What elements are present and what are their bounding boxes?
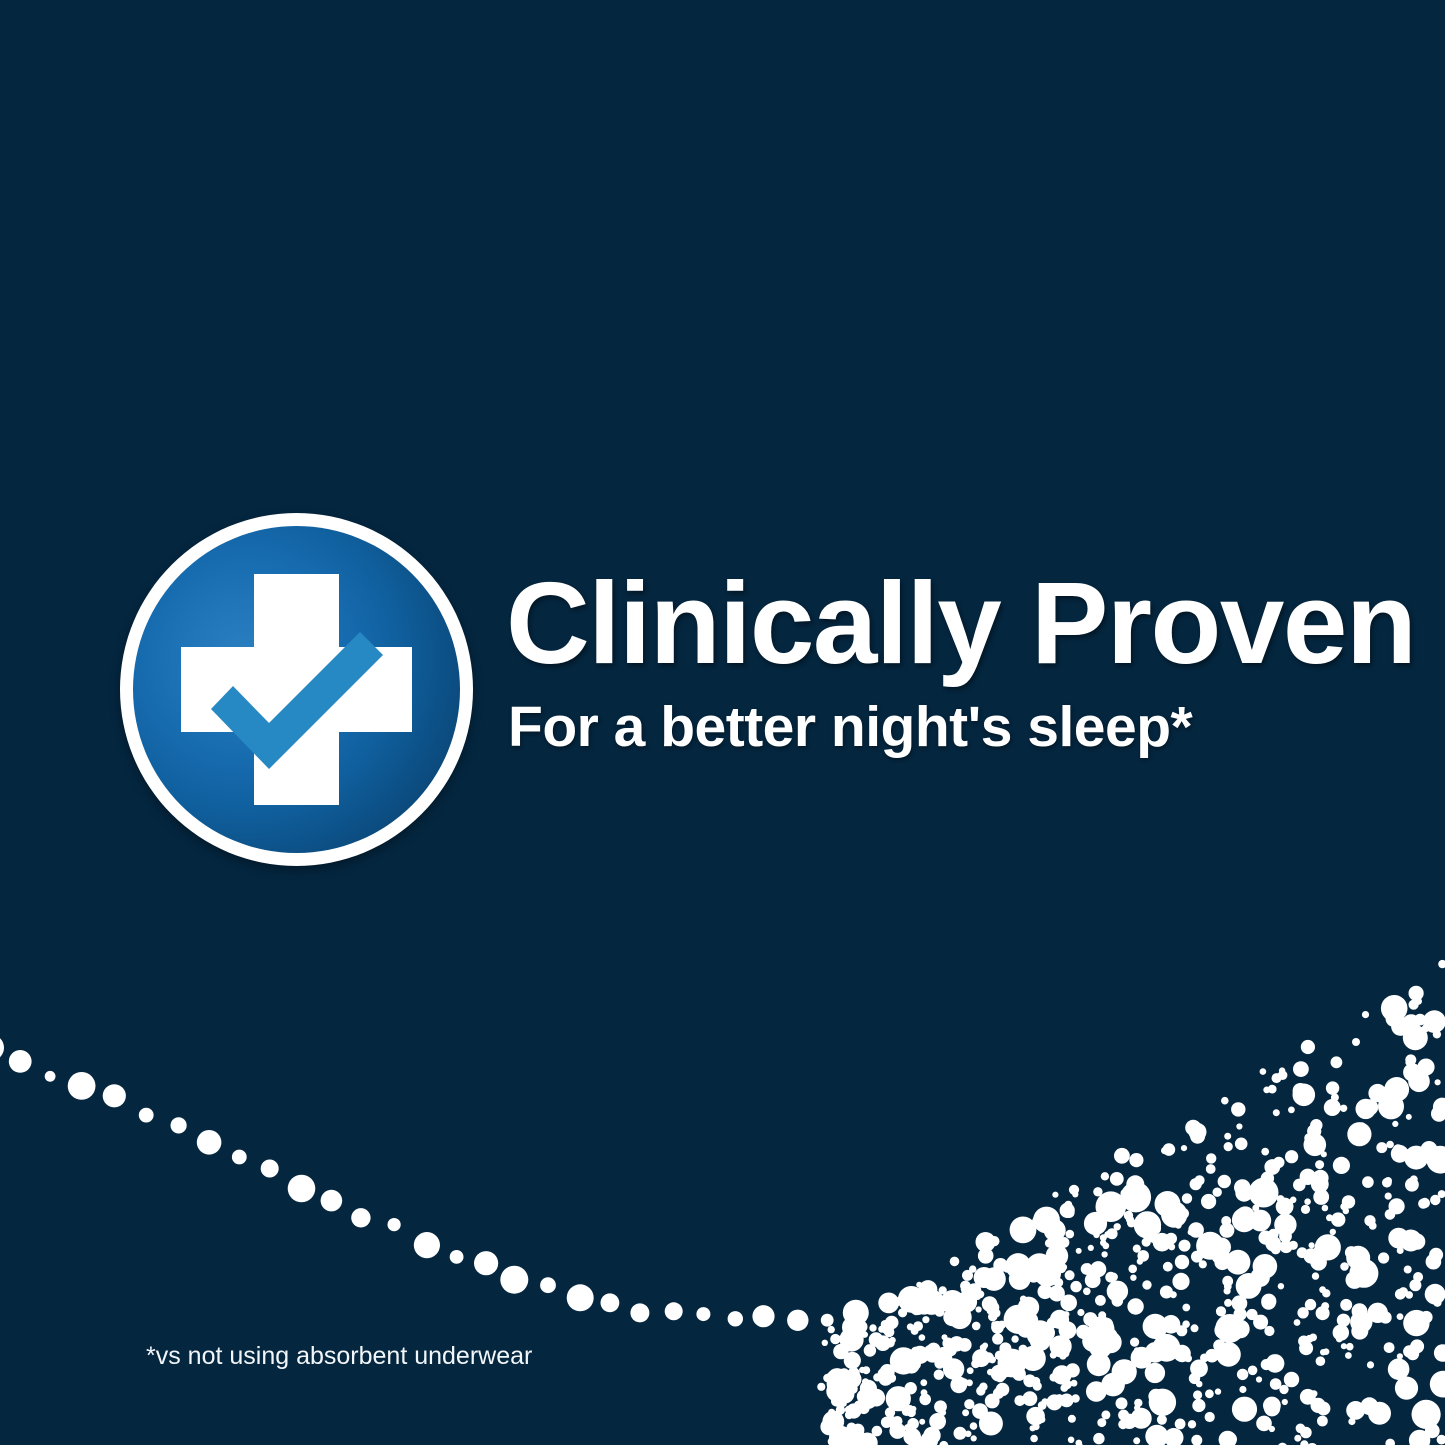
page-title: Clinically Proven — [506, 565, 1386, 681]
subtitle: For a better night's sleep* — [508, 699, 1386, 756]
clinically-proven-badge — [120, 513, 473, 866]
headline-block: Clinically Proven For a better night's s… — [506, 565, 1386, 756]
medical-cross-check-icon — [133, 526, 460, 853]
footnote-disclaimer: *vs not using absorbent underwear — [146, 1341, 532, 1371]
promo-canvas: Clinically Proven For a better night's s… — [0, 0, 1445, 1445]
